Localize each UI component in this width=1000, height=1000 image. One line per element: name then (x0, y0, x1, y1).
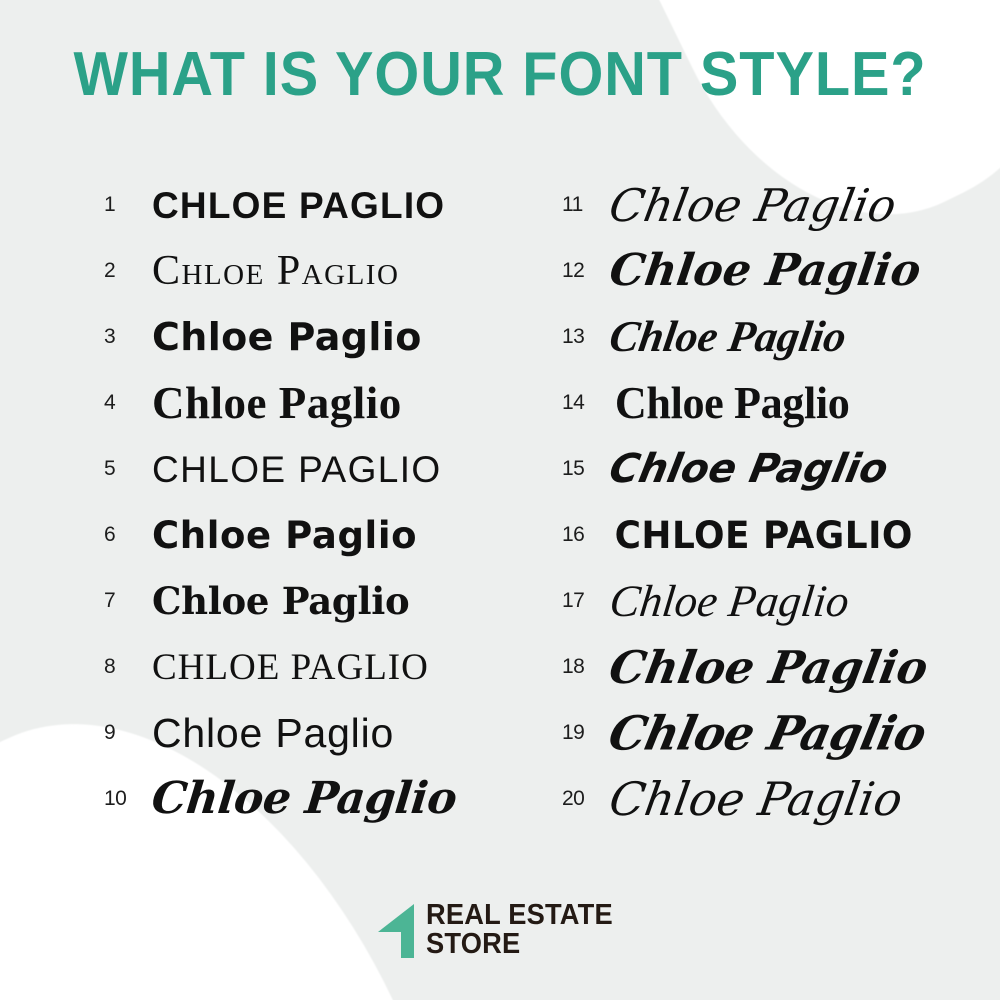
font-row[interactable]: 10Chloe Paglio (104, 766, 500, 832)
font-row[interactable]: 20Chloe Paglio (562, 766, 1000, 832)
font-row[interactable]: 3Chloe Paglio (104, 304, 500, 370)
font-row[interactable]: 4Chloe Paglio (104, 370, 500, 436)
font-sample-16: CHLOE PAGLIO (615, 517, 913, 554)
font-sample-13: Chloe Paglio (607, 315, 850, 359)
font-sample-14: Chloe Paglio (615, 380, 850, 426)
font-row-number: 18 (562, 655, 596, 679)
font-sample-5: CHLOE PAGLIO (152, 451, 442, 488)
font-row[interactable]: 11Chloe Paglio (562, 172, 1000, 238)
font-row-number: 9 (104, 721, 138, 745)
font-column-right: 11Chloe Paglio12Chloe Paglio13Chloe Pagl… (500, 172, 1000, 842)
font-row-number: 13 (562, 325, 596, 349)
font-row[interactable]: 15Chloe Paglio (562, 436, 1000, 502)
font-row-number: 15 (562, 457, 596, 481)
house-arrow-icon (376, 902, 416, 958)
brand-logo: REAL ESTATE STORE (0, 901, 1000, 958)
font-row-number: 10 (104, 787, 138, 811)
font-sample-8: CHLOE PAGLIO (152, 649, 429, 686)
font-specimen-list: 1CHLOE PAGLIO2Chloe Paglio3Chloe Paglio4… (0, 172, 1000, 842)
font-sample-19: Chloe Paglio (605, 710, 930, 757)
font-row[interactable]: 18Chloe Paglio (562, 634, 1000, 700)
font-sample-3: Chloe Paglio (152, 318, 422, 356)
font-row-number: 7 (104, 589, 138, 613)
font-row-number: 16 (562, 523, 596, 547)
font-row-number: 2 (104, 259, 138, 283)
font-row[interactable]: 7Chloe Paglio (104, 568, 500, 634)
font-row-number: 14 (562, 391, 596, 415)
font-row-number: 20 (562, 787, 596, 811)
font-row-number: 1 (104, 193, 138, 217)
font-sample-6: Chloe Paglio (152, 517, 417, 554)
font-row[interactable]: 9Chloe Paglio (104, 700, 500, 766)
font-row[interactable]: 17Chloe Paglio (562, 568, 1000, 634)
font-sample-20: Chloe Paglio (606, 776, 905, 822)
brand-line-2: STORE (426, 930, 613, 958)
font-sample-15: Chloe Paglio (606, 449, 891, 489)
font-row-number: 12 (562, 259, 596, 283)
font-row-number: 17 (562, 589, 596, 613)
font-row-number: 19 (562, 721, 596, 745)
brand-line-1: REAL ESTATE (426, 901, 613, 929)
font-sample-2: Chloe Paglio (152, 250, 399, 292)
font-row[interactable]: 12Chloe Paglio (562, 238, 1000, 304)
font-row-number: 11 (562, 193, 596, 217)
font-row-number: 5 (104, 457, 138, 481)
font-row[interactable]: 5CHLOE PAGLIO (104, 436, 500, 502)
font-row-number: 4 (104, 391, 138, 415)
font-sample-7: Chloe Paglio (152, 583, 409, 620)
font-sample-10: Chloe Paglio (150, 777, 459, 821)
font-row-number: 8 (104, 655, 138, 679)
font-sample-11: Chloe Paglio (606, 183, 900, 228)
font-sample-12: Chloe Paglio (607, 249, 924, 293)
font-row[interactable]: 1CHLOE PAGLIO (104, 172, 500, 238)
font-row[interactable]: 16CHLOE PAGLIO (562, 502, 1000, 568)
font-sample-1: CHLOE PAGLIO (152, 187, 445, 224)
font-sample-9: Chloe Paglio (152, 713, 394, 754)
page-title: WHAT IS YOUR FONT STYLE? (35, 44, 965, 106)
font-row[interactable]: 13Chloe Paglio (562, 304, 1000, 370)
font-row[interactable]: 14Chloe Paglio (562, 370, 1000, 436)
font-row[interactable]: 6Chloe Paglio (104, 502, 500, 568)
font-row[interactable]: 19Chloe Paglio (562, 700, 1000, 766)
font-sample-17: Chloe Paglio (607, 579, 851, 624)
font-column-left: 1CHLOE PAGLIO2Chloe Paglio3Chloe Paglio4… (0, 172, 500, 842)
font-sample-18: Chloe Paglio (606, 645, 931, 690)
font-row[interactable]: 2Chloe Paglio (104, 238, 500, 304)
font-row-number: 3 (104, 325, 138, 349)
font-sample-4: Chloe Paglio (152, 381, 402, 426)
font-row-number: 6 (104, 523, 138, 547)
poster-canvas: WHAT IS YOUR FONT STYLE? 1CHLOE PAGLIO2C… (0, 0, 1000, 1000)
font-row[interactable]: 8CHLOE PAGLIO (104, 634, 500, 700)
brand-logo-text: REAL ESTATE STORE (426, 901, 625, 958)
